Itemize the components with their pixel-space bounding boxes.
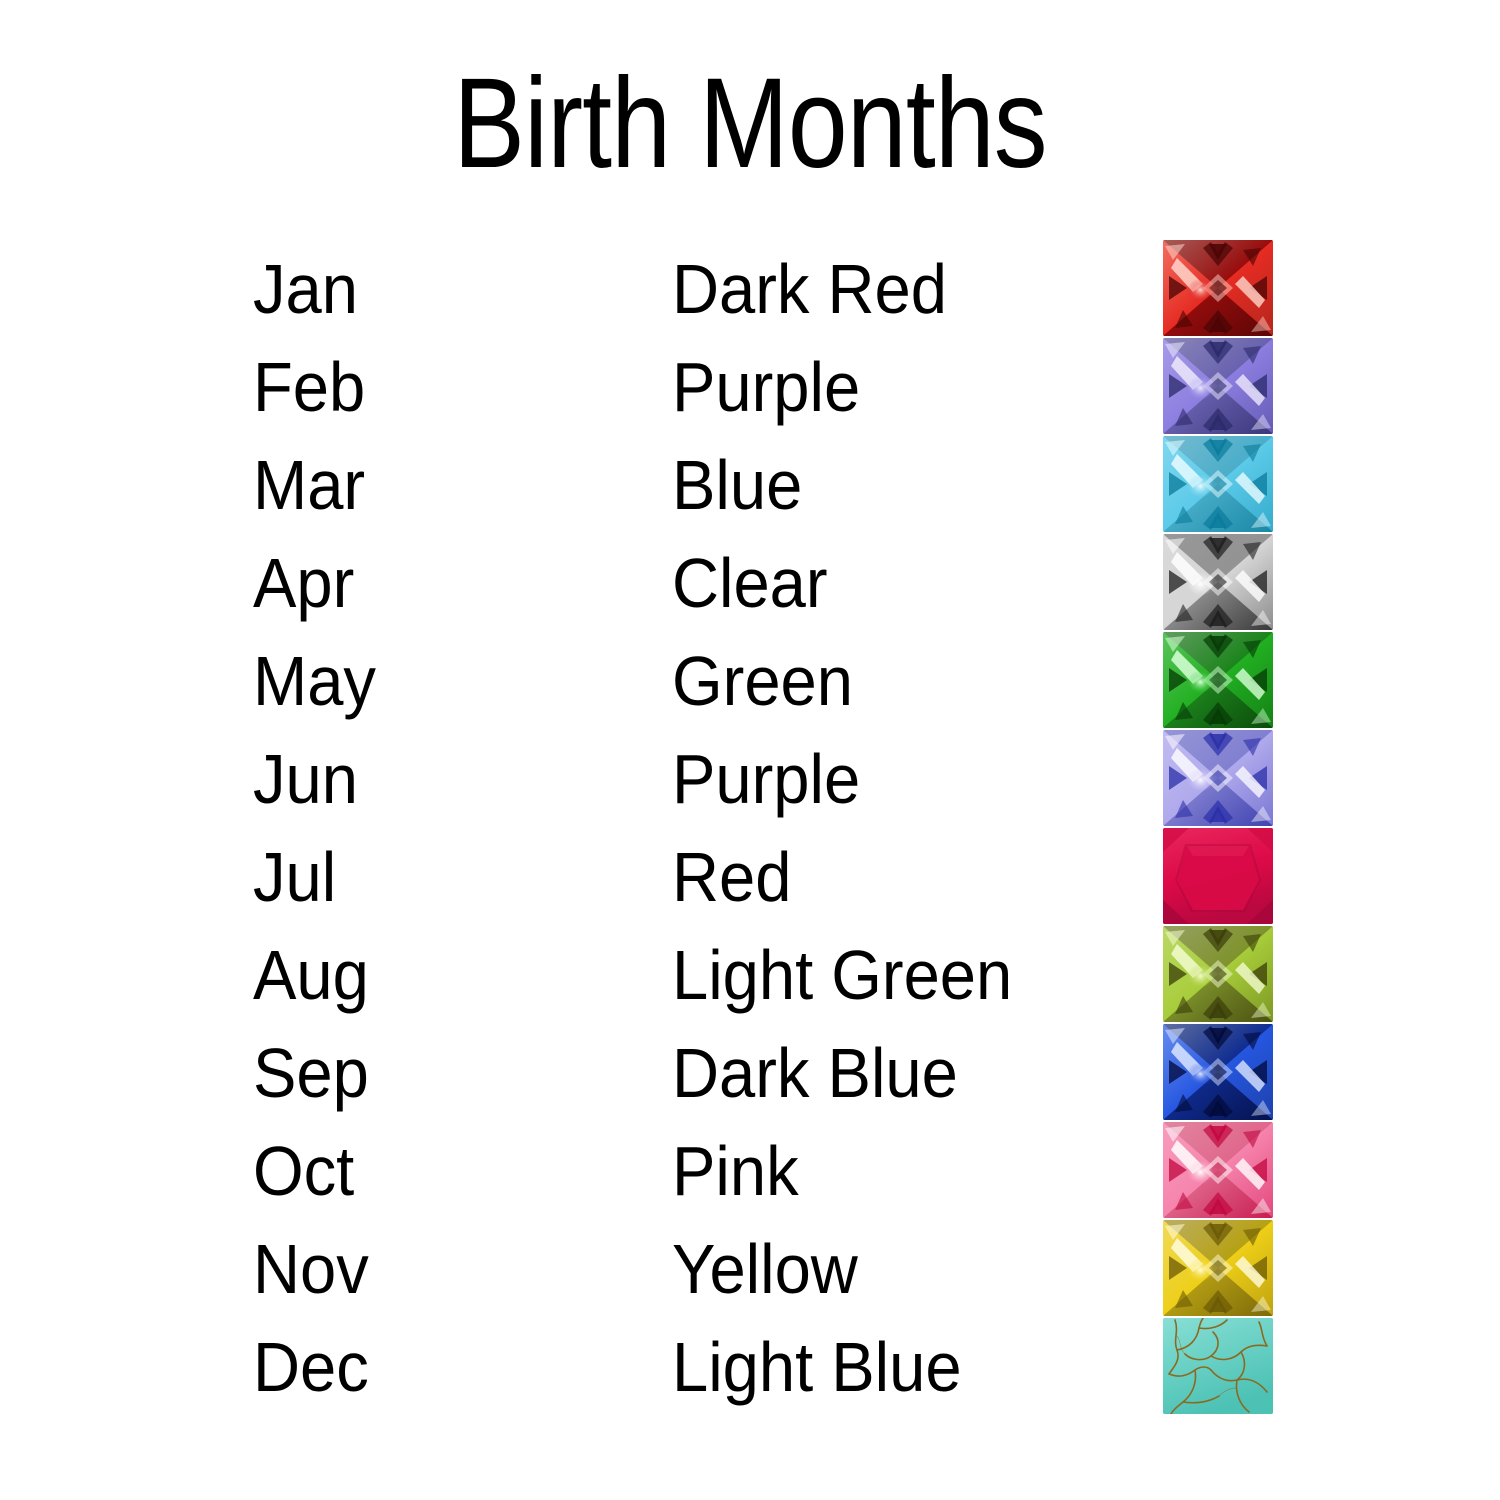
color-label: Purple — [672, 730, 860, 828]
diamond-gem — [1163, 534, 1273, 630]
color-label: Pink — [672, 1122, 799, 1220]
color-label: Light Green — [672, 926, 1012, 1024]
birth-month-row: DecLight Blue — [0, 1318, 1500, 1416]
gem-illustration — [1163, 1318, 1273, 1414]
birth-month-row: JanDark Red — [0, 240, 1500, 338]
tourmaline-gem — [1163, 1122, 1273, 1218]
birth-month-row: FebPurple — [0, 338, 1500, 436]
peridot-gem — [1163, 926, 1273, 1022]
gem-illustration — [1163, 436, 1273, 532]
gem-illustration — [1163, 926, 1273, 1022]
color-label: Green — [672, 632, 853, 730]
month-label: Sep — [253, 1024, 369, 1122]
gem-illustration — [1163, 1220, 1273, 1316]
month-label: Mar — [253, 436, 365, 534]
gem-illustration — [1163, 1024, 1273, 1120]
month-label: Jan — [253, 240, 358, 338]
color-label: Dark Blue — [672, 1024, 958, 1122]
month-label: Apr — [253, 534, 354, 632]
birth-month-row: MayGreen — [0, 632, 1500, 730]
alexandrite-gem — [1163, 730, 1273, 826]
birth-month-row: MarBlue — [0, 436, 1500, 534]
birth-months-page: Birth Months JanDark Red — [0, 0, 1500, 1500]
color-label: Purple — [672, 338, 860, 436]
month-label: Nov — [253, 1220, 369, 1318]
gem-illustration — [1163, 1122, 1273, 1218]
emerald-gem — [1163, 632, 1273, 728]
sapphire-gem — [1163, 1024, 1273, 1120]
month-label: Dec — [253, 1318, 369, 1416]
birth-month-row: NovYellow — [0, 1220, 1500, 1318]
turquoise-gem — [1163, 1318, 1273, 1414]
birth-month-row: OctPink — [0, 1122, 1500, 1220]
month-label: Jun — [253, 730, 358, 828]
gem-illustration — [1163, 730, 1273, 826]
color-label: Red — [672, 828, 791, 926]
birth-month-row: JunPurple — [0, 730, 1500, 828]
gem-illustration — [1163, 828, 1273, 924]
citrine-gem — [1163, 1220, 1273, 1316]
aquamarine-gem — [1163, 436, 1273, 532]
month-label: Aug — [253, 926, 369, 1024]
color-label: Yellow — [672, 1220, 858, 1318]
garnet-gem — [1163, 240, 1273, 336]
month-label: Oct — [253, 1122, 354, 1220]
month-label: Feb — [253, 338, 365, 436]
gem-illustration — [1163, 534, 1273, 630]
birth-month-row: JulRed — [0, 828, 1500, 926]
birth-months-list: JanDark Red — [0, 240, 1500, 1416]
gem-illustration — [1163, 338, 1273, 434]
birth-month-row: AugLight Green — [0, 926, 1500, 1024]
color-label: Light Blue — [672, 1318, 962, 1416]
amethyst-gem — [1163, 338, 1273, 434]
gem-illustration — [1163, 240, 1273, 336]
ruby-gem — [1163, 828, 1273, 924]
page-title: Birth Months — [120, 60, 1380, 188]
birth-month-row: AprClear — [0, 534, 1500, 632]
color-label: Clear — [672, 534, 828, 632]
color-label: Dark Red — [672, 240, 947, 338]
month-label: Jul — [253, 828, 336, 926]
color-label: Blue — [672, 436, 802, 534]
month-label: May — [253, 632, 376, 730]
birth-month-row: SepDark Blue — [0, 1024, 1500, 1122]
gem-illustration — [1163, 632, 1273, 728]
